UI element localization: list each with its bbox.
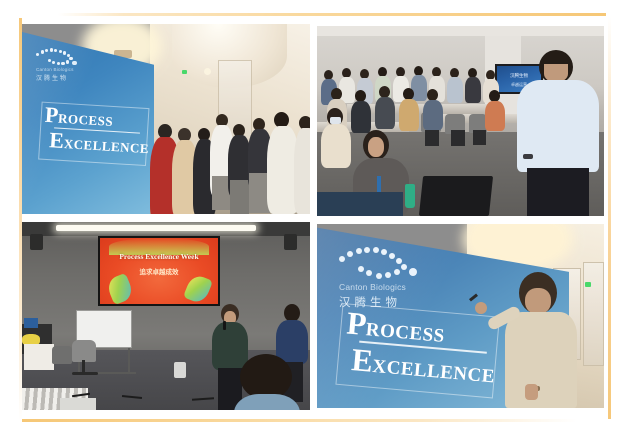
projection-screen: Process Excellence Week 追求卓越成效: [98, 236, 220, 306]
collage-grid: Canton Biologics 汉腾生物 P ROCESS E XCELLEN…: [22, 24, 604, 410]
frame-rule-right: [608, 16, 611, 419]
frame-rule-top: [58, 13, 606, 16]
slide-subtitle: 追求卓越成效: [100, 266, 218, 276]
brand-logo-en: Canton Biologics: [36, 67, 82, 72]
brand-logo-cn: 汉腾生物: [36, 73, 82, 82]
slide-title: Process Excellence Week: [100, 252, 218, 261]
photo-top-left: Canton Biologics 汉腾生物 P ROCESS E XCELLEN…: [22, 24, 310, 214]
water-bottle: [405, 184, 415, 208]
process-excellence-wordmark: P ROCESS E XCELLENCE: [343, 309, 500, 385]
laptop: [419, 176, 493, 216]
photo-bottom-right: Canton Biologics 汉腾生物 P ROCESS E XCELLEN…: [317, 224, 604, 408]
photo-collage-page: Canton Biologics 汉腾生物 P ROCESS E XCELLEN…: [0, 0, 628, 439]
photo-bottom-left: Process Excellence Week 追求卓越成效: [22, 222, 310, 410]
process-excellence-wordmark: P ROCESS E XCELLENCE: [43, 106, 152, 156]
brand-logo: Canton Biologics 汉腾生物: [339, 246, 423, 310]
ceiling-light: [56, 225, 256, 231]
brand-logo: Canton Biologics 汉腾生物: [36, 48, 82, 82]
brand-logo-en: Canton Biologics: [339, 282, 423, 292]
office-chair: [72, 340, 96, 362]
photo-top-right: 汉腾生物 卓越运营: [317, 26, 604, 216]
frame-rule-bottom: [22, 419, 577, 422]
screen-text-line1: 汉腾生物: [497, 73, 541, 79]
microphone-icon: [223, 321, 226, 330]
exit-indicator: [585, 282, 591, 287]
